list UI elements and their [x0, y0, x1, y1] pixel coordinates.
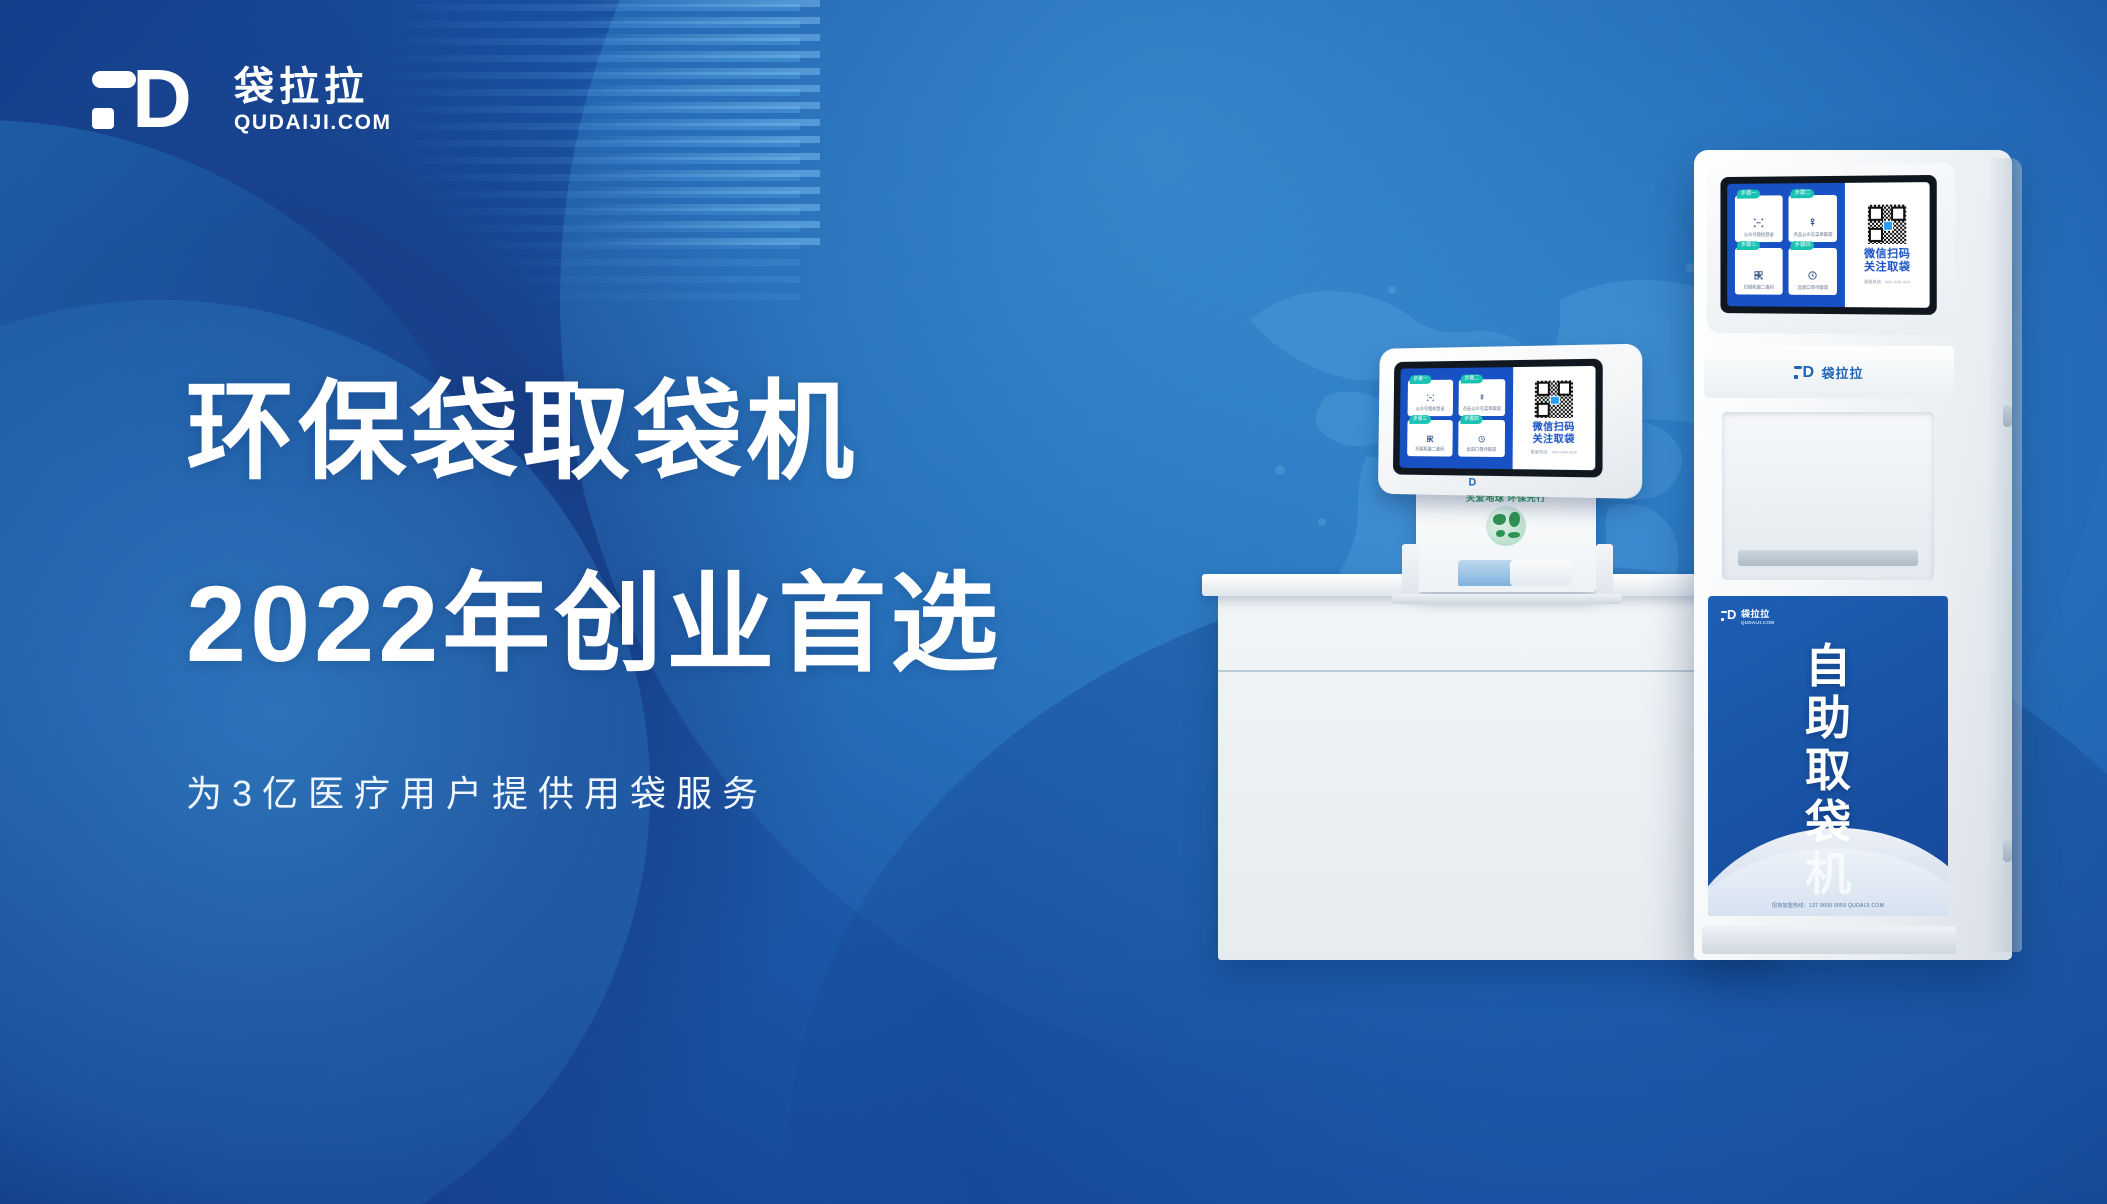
wechat-prompt: 微信扫码 关注取袋	[1533, 422, 1575, 446]
step-text: 出袋口等待取袋	[1464, 447, 1499, 453]
step-tag: 步骤一	[1737, 189, 1760, 198]
hotline-text: 客服热线：400-004-919	[1531, 450, 1577, 456]
qr-code-icon[interactable]	[1868, 205, 1907, 244]
logo-letter: D	[132, 62, 190, 136]
brand-logo[interactable]: D 袋拉拉 QUDAIJI.COM	[92, 62, 392, 136]
wechat-prompt-line1: 微信扫码	[1533, 422, 1575, 434]
wechat-prompt-line2: 关注取袋	[1533, 434, 1575, 446]
hero-banner: D 袋拉拉 QUDAIJI.COM 环保袋取袋机 2022年创业首选 为3亿医疗…	[0, 0, 2107, 1204]
hotline-text: 客服热线：400-004-919	[1864, 279, 1910, 285]
wechat-prompt-line1: 微信扫码	[1864, 248, 1910, 261]
kiosk-graphic-panel: D 袋拉拉 QUDAIJI.COM 自 助 取 袋 机 招商加盟热线：137	[1708, 596, 1948, 916]
step-card[interactable]: 步骤四 出袋口等待取袋	[1458, 420, 1505, 457]
kiosk-display-housing: 步骤一 公众号授权登录 步骤二	[1707, 163, 1955, 336]
kiosk-ui-steps-panel: 步骤一 公众号授权登录 步骤二	[1400, 367, 1514, 469]
dispenser-display-housing: 步骤一 公众号授权登录 步骤二	[1378, 344, 1642, 499]
dailala-mark-icon: D	[1721, 610, 1736, 622]
page-subtitle: 2022年创业首选	[186, 560, 1002, 688]
mark-bar-shape	[92, 71, 136, 88]
page-title: 环保袋取袋机	[186, 368, 1002, 496]
mark-dot-shape	[92, 108, 114, 129]
dailala-mark-icon: D	[92, 62, 212, 136]
logo-letter: D	[1727, 608, 1736, 622]
dispenser-leg-right	[1596, 544, 1613, 600]
dispenser-leg-left	[1402, 544, 1419, 600]
panel-brand-cn: 袋拉拉	[1741, 607, 1774, 620]
step-text: 点击公众号菜单取袋	[1791, 232, 1836, 238]
kiosk-base-plinth	[1702, 926, 1956, 954]
mark-dot-shape	[1721, 618, 1724, 621]
touch-icon	[1476, 394, 1488, 403]
step-text: 公众号授权登录	[1741, 232, 1777, 238]
step-tag: 步骤三	[1409, 415, 1431, 424]
brand-name-en: QUDAIJI.COM	[234, 112, 392, 134]
kiosk-touchscreen[interactable]: 步骤一 公众号授权登录 步骤二	[1720, 175, 1936, 315]
panel-title-char: 取	[1805, 744, 1851, 796]
panel-wordmark: 袋拉拉 QUDAIJI.COM	[1741, 607, 1774, 625]
qr-code-icon[interactable]	[1535, 380, 1573, 418]
dispenser-body: 关爱地球 环保先行	[1416, 484, 1596, 592]
hero-copy: 环保袋取袋机 2022年创业首选 为3亿医疗用户提供用袋服务	[186, 368, 1002, 816]
step-text: 公众号授权登录	[1413, 406, 1447, 412]
dispenser-touchscreen[interactable]: 步骤一 公众号授权登录 步骤二	[1393, 359, 1603, 478]
mark-bar-shape	[1794, 366, 1802, 369]
mark-dot-shape	[1794, 375, 1798, 379]
brand-wordmark: 袋拉拉 QUDAIJI.COM	[234, 65, 392, 134]
kiosk-ui-qr-panel: 微信扫码 关注取袋 客服热线：400-004-919	[1513, 366, 1596, 470]
step-tag: 步骤一	[1410, 375, 1432, 384]
clock-icon	[1475, 435, 1487, 444]
kiosk-ui: 步骤一 公众号授权登录 步骤二	[1727, 182, 1929, 308]
wechat-prompt: 微信扫码 关注取袋	[1864, 248, 1910, 274]
step-card[interactable]: 步骤三 扫描机器二维码	[1735, 248, 1783, 294]
product-scene: 关爱地球 环保先行 步骤一	[1180, 150, 2100, 980]
kiosk-side-shadow	[1988, 158, 2022, 952]
kiosk-hinge-top	[2003, 405, 2012, 427]
panel-brand-en: QUDAIJI.COM	[1741, 620, 1774, 625]
scan-icon	[1424, 394, 1436, 402]
step-text: 扫描机器二维码	[1412, 447, 1447, 453]
panel-title-char: 自	[1805, 640, 1851, 692]
brand-name-cn: 袋拉拉	[234, 65, 392, 109]
panel-title-char: 助	[1805, 692, 1851, 744]
kiosk-chute-lip	[1738, 550, 1918, 566]
dailala-mark-icon: D	[1794, 365, 1814, 380]
touch-icon	[1807, 217, 1820, 228]
step-card[interactable]: 步骤三 扫描机器二维码	[1407, 420, 1453, 456]
step-text: 出袋口等待取袋	[1795, 285, 1831, 291]
kiosk-ui-qr-panel: 微信扫码 关注取袋 客服热线：400-004-919	[1845, 182, 1929, 308]
step-tag: 步骤四	[1791, 241, 1815, 250]
kiosk-brand-bar: D 袋拉拉	[1704, 346, 1954, 398]
kiosk-brand-name: 袋拉拉	[1821, 363, 1863, 382]
green-earth-icon	[1486, 506, 1526, 546]
step-card[interactable]: 步骤一 公众号授权登录	[1408, 380, 1454, 416]
step-text: 点击公众号菜单取袋	[1460, 406, 1504, 412]
step-text: 扫描机器二维码	[1741, 284, 1777, 290]
scan-icon	[1753, 217, 1765, 228]
bag-outlet-cover	[1510, 560, 1572, 586]
qr-scan-icon	[1424, 435, 1436, 443]
floor-standing-kiosk[interactable]: 步骤一 公众号授权登录 步骤二	[1678, 150, 2038, 960]
step-tag: 步骤四	[1460, 415, 1482, 424]
kiosk-hinge-bottom	[2003, 840, 2012, 862]
wechat-prompt-line2: 关注取袋	[1864, 261, 1910, 274]
step-tag: 步骤二	[1461, 374, 1483, 383]
panel-brand-logo: D 袋拉拉 QUDAIJI.COM	[1721, 607, 1774, 625]
step-tag: 步骤三	[1737, 242, 1760, 251]
step-card[interactable]: 步骤四 出袋口等待取袋	[1789, 248, 1837, 295]
countertop-dispenser[interactable]: 关爱地球 环保先行 步骤一	[1358, 346, 1658, 596]
kiosk-ui-steps-panel: 步骤一 公众号授权登录 步骤二	[1727, 183, 1845, 307]
qr-scan-icon	[1753, 270, 1765, 281]
hero-tagline: 为3亿医疗用户提供用袋服务	[186, 772, 1002, 816]
step-tag: 步骤二	[1791, 189, 1815, 198]
step-card[interactable]: 步骤一 公众号授权登录	[1735, 196, 1783, 243]
step-card[interactable]: 步骤二 点击公众号菜单取袋	[1789, 195, 1837, 242]
kiosk-ui: 步骤一 公众号授权登录 步骤二	[1400, 366, 1596, 470]
dispenser-brand-badge: D	[1468, 477, 1476, 489]
clock-icon	[1807, 270, 1820, 281]
logo-letter: D	[1802, 364, 1814, 381]
dispenser-base	[1392, 594, 1622, 604]
step-card[interactable]: 步骤二 点击公众号菜单取袋	[1459, 379, 1506, 416]
panel-footer-text: 招商加盟热线：137 9600 0059 QUDAIJI.COM	[1708, 902, 1948, 909]
